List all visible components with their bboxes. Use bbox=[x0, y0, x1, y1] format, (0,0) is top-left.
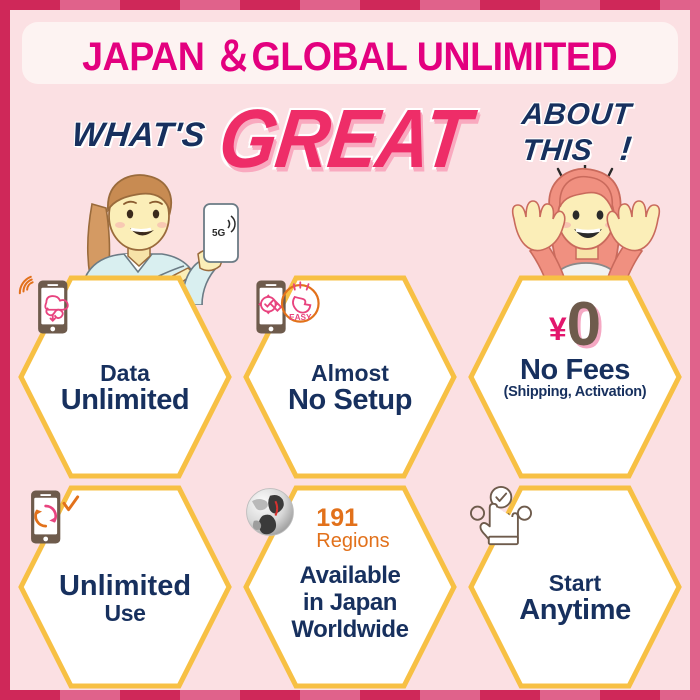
feature-note: (Shipping, Activation) bbox=[504, 385, 647, 401]
svg-text:5G: 5G bbox=[212, 228, 226, 239]
feature-card-almost-no-setup[interactable]: EASY Almost No Setup bbox=[243, 275, 457, 480]
feature-line1: Unlimited bbox=[59, 571, 191, 601]
regions-count: 191 bbox=[316, 506, 358, 531]
feature-line1: Available bbox=[300, 563, 401, 590]
headline-whats: WHAT'S bbox=[70, 116, 207, 155]
feature-line2: in Japan bbox=[303, 590, 397, 617]
feature-line2: Anytime bbox=[519, 595, 631, 625]
feature-card-available-in-japan-worldwide[interactable]: 191 Regions Available in Japan Worldwide bbox=[243, 485, 457, 690]
feature-card-no-fees[interactable]: ¥ 0 No Fees (Shipping, Activation) bbox=[468, 275, 682, 480]
yen-value: 0 bbox=[567, 297, 601, 353]
svg-text:EASY: EASY bbox=[289, 313, 312, 322]
feature-grid: Data Unlimited bbox=[10, 275, 690, 690]
feature-line1: Data bbox=[100, 361, 150, 385]
feature-card-start-anytime[interactable]: Start Anytime bbox=[468, 485, 682, 690]
feature-line2: Unlimited bbox=[61, 385, 190, 415]
title-banner: JAPAN ＆GLOBAL UNLIMITED bbox=[22, 22, 678, 84]
page-title: JAPAN ＆GLOBAL UNLIMITED bbox=[82, 24, 617, 82]
feature-line2: No Fees bbox=[520, 355, 630, 385]
headline-about: ABOUT bbox=[520, 98, 633, 132]
headline-great: GREAT bbox=[214, 91, 474, 186]
regions-label: Regions bbox=[316, 531, 389, 551]
feature-line1: Almost bbox=[311, 361, 389, 385]
feature-line1: Start bbox=[549, 571, 601, 595]
headline-exclamation: ! bbox=[618, 130, 634, 169]
feature-card-data-unlimited[interactable]: Data Unlimited bbox=[18, 275, 232, 480]
feature-card-unlimited-use[interactable]: Unlimited Use bbox=[18, 485, 232, 690]
yen-zero-icon: ¥ 0 bbox=[549, 287, 601, 353]
feature-line3: Worldwide bbox=[291, 617, 408, 644]
poster-root: JAPAN ＆GLOBAL UNLIMITED WHAT'S GREAT ABO… bbox=[0, 0, 700, 700]
yen-sign: ¥ bbox=[549, 313, 567, 345]
poster-inner: JAPAN ＆GLOBAL UNLIMITED WHAT'S GREAT ABO… bbox=[10, 10, 690, 690]
headline-this: THIS bbox=[520, 134, 594, 168]
feature-line2: No Setup bbox=[288, 385, 412, 415]
feature-line2: Use bbox=[105, 601, 146, 625]
